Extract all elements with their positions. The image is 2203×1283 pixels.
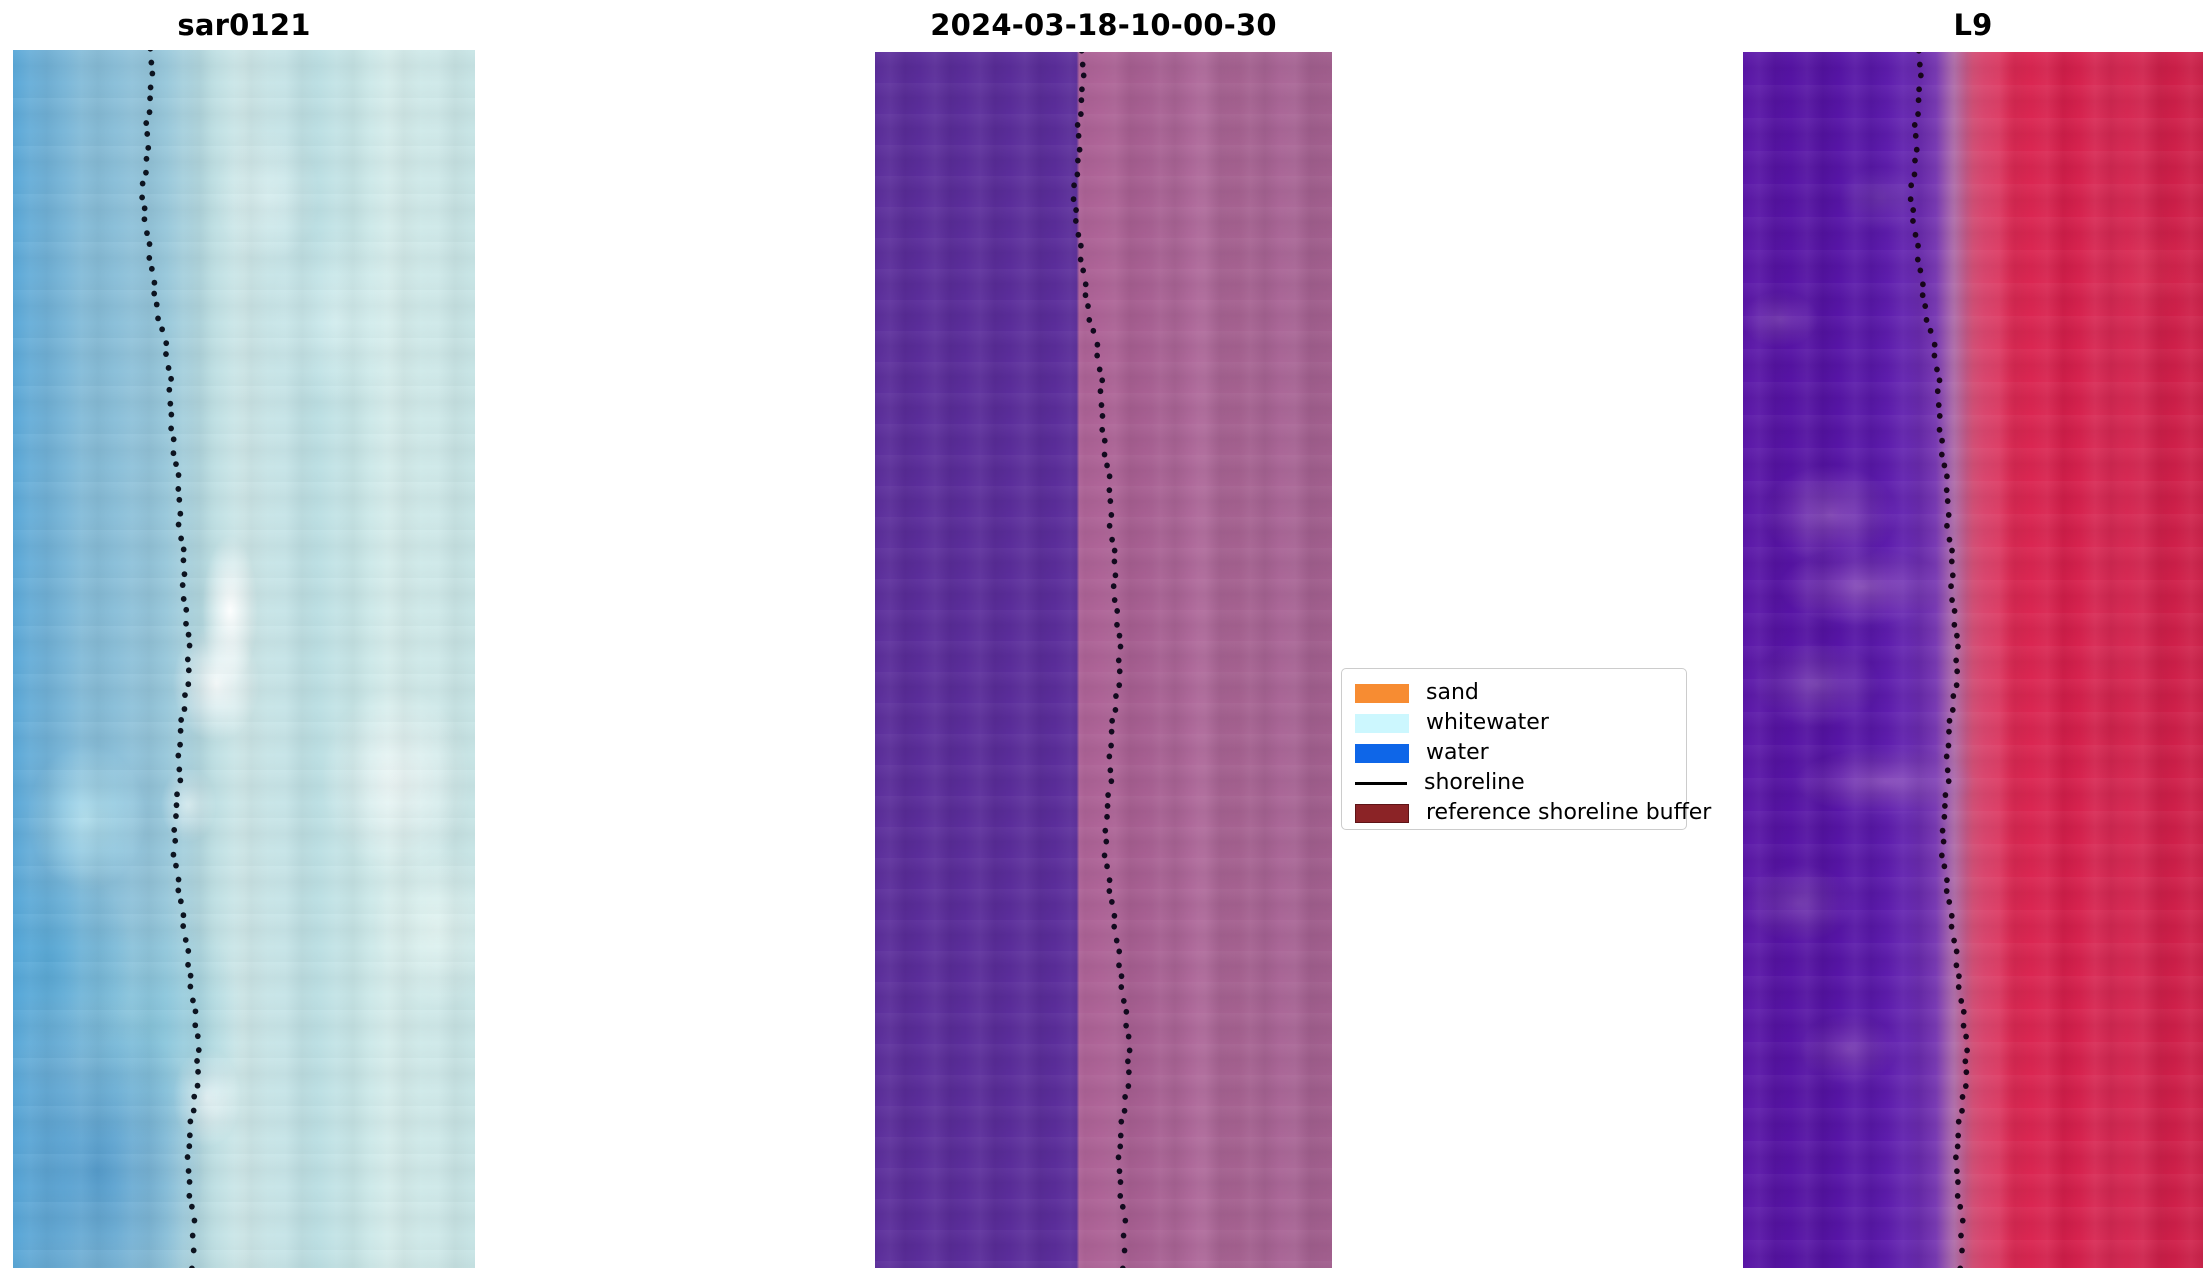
water-swatch-icon xyxy=(1355,744,1409,763)
figure-canvas: sar0121 2024-03-18-10-00-30 L9 xyxy=(0,0,2203,1283)
shoreline-line-icon xyxy=(1355,782,1407,785)
class-pixel-texture xyxy=(875,52,1332,1268)
legend-label-sand: sand xyxy=(1426,682,1479,704)
panel-classification-image[interactable] xyxy=(875,52,1332,1268)
panel-l9-image[interactable] xyxy=(1743,52,2203,1268)
l9-raster xyxy=(1743,52,2203,1268)
sar-raster xyxy=(13,50,475,1268)
whitewater-swatch-icon xyxy=(1355,714,1409,733)
reference-buffer-swatch-icon xyxy=(1355,804,1409,823)
panel-title-sar: sar0121 xyxy=(13,8,475,42)
legend-item-shoreline: shoreline xyxy=(1355,768,1674,798)
legend-item-reference-buffer: reference shoreline buffer xyxy=(1355,798,1674,828)
panel-title-l9: L9 xyxy=(1743,8,2203,42)
sand-swatch-icon xyxy=(1355,684,1409,703)
legend-box[interactable]: sand whitewater water shoreline referenc… xyxy=(1341,668,1687,830)
l9-pixel-texture xyxy=(1743,52,2203,1268)
legend-item-whitewater: whitewater xyxy=(1355,708,1674,738)
panel-sar-image[interactable] xyxy=(13,50,475,1268)
sar-pixel-rows xyxy=(13,50,475,1268)
legend-label-water: water xyxy=(1426,742,1489,764)
legend-label-reference-buffer: reference shoreline buffer xyxy=(1426,802,1711,824)
legend-label-shoreline: shoreline xyxy=(1424,772,1525,794)
panel-title-classification: 2024-03-18-10-00-30 xyxy=(875,8,1332,42)
classification-raster xyxy=(875,52,1332,1268)
legend-label-whitewater: whitewater xyxy=(1426,712,1549,734)
legend-item-water: water xyxy=(1355,738,1674,768)
legend-item-sand: sand xyxy=(1355,678,1674,708)
